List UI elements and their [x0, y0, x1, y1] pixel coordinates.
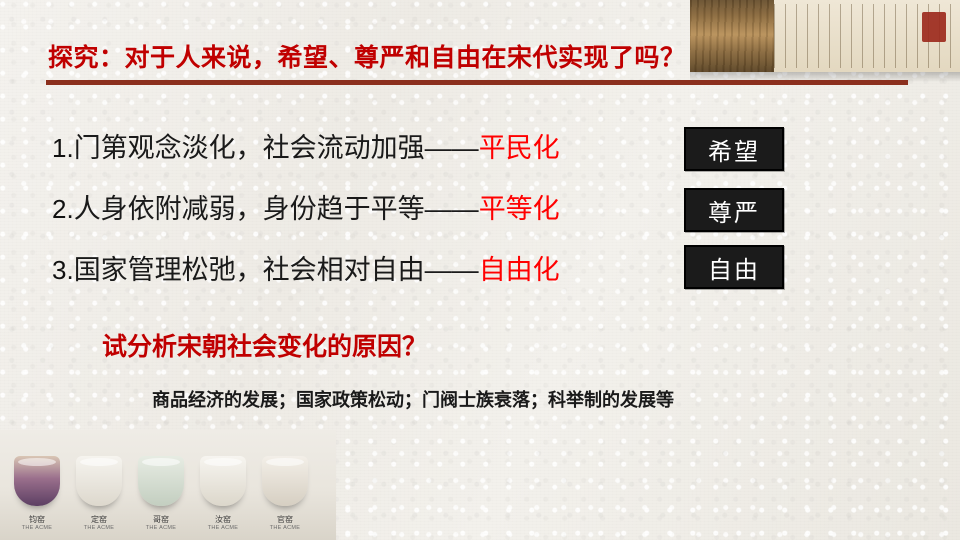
- list-item-text: 国家管理松弛，社会相对自由——: [74, 248, 479, 287]
- list-item-number: 1.: [52, 133, 74, 164]
- points-list: 1. 门第观念淡化，社会流动加强—— 平民化 2. 人身依附减弱，身份趋于平等—…: [52, 126, 692, 309]
- teacup-caption-en: THE ACME: [71, 525, 127, 532]
- list-item: 1. 门第观念淡化，社会流动加强—— 平民化: [52, 126, 692, 165]
- teacup-caption-cn: 定窑: [71, 515, 127, 525]
- list-item-highlight: 平民化: [479, 126, 560, 165]
- teacup-icon: [262, 456, 308, 506]
- teacup-caption: 钧窑 THE ACME: [9, 515, 65, 532]
- list-item-text: 门第观念淡化，社会流动加强——: [74, 126, 479, 165]
- list-item-highlight: 平等化: [479, 187, 560, 226]
- page-title: 探究：对于人来说，希望、尊严和自由在宋代实现了吗？: [48, 38, 686, 74]
- red-seal-icon: [922, 12, 946, 42]
- teacup-caption-cn: 汝窑: [195, 515, 251, 525]
- teacup-caption-en: THE ACME: [133, 525, 189, 532]
- teacup-icon: [138, 456, 184, 506]
- teacup-caption: 官窑 THE ACME: [257, 515, 313, 532]
- teacup-caption: 哥窑 THE ACME: [133, 515, 189, 532]
- title-underline-rule: [46, 80, 908, 85]
- list-item: 3. 国家管理松弛，社会相对自由—— 自由化: [52, 248, 692, 287]
- teacup-icon: [200, 456, 246, 506]
- teacup-row-image: 钧窑 THE ACME 定窑 THE ACME 哥窑 THE ACME 汝窑 T…: [0, 430, 336, 540]
- teacup-caption-en: THE ACME: [257, 525, 313, 532]
- teacup-caption-cn: 官窑: [257, 515, 313, 525]
- teacup-caption: 定窑 THE ACME: [71, 515, 127, 532]
- teacup-caption-cn: 哥窑: [133, 515, 189, 525]
- keyword-badge-hope: 希望: [684, 127, 784, 171]
- teacup-caption-en: THE ACME: [9, 525, 65, 532]
- teacup-caption-cn: 钧窑: [9, 515, 65, 525]
- answer-text: 商品经济的发展；国家政策松动；门阀士族衰落；科举制的发展等: [152, 386, 674, 412]
- list-item-highlight: 自由化: [479, 248, 560, 287]
- discussion-question: 试分析宋朝社会变化的原因？: [102, 327, 427, 363]
- teacup-caption-en: THE ACME: [195, 525, 251, 532]
- list-item-number: 2.: [52, 194, 74, 225]
- teacup-icon: [14, 456, 60, 506]
- list-item-number: 3.: [52, 255, 74, 286]
- keyword-badge-dignity: 尊严: [684, 188, 784, 232]
- list-item: 2. 人身依附减弱，身份趋于平等—— 平等化: [52, 187, 692, 226]
- list-item-text: 人身依附减弱，身份趋于平等——: [74, 187, 479, 226]
- ancient-scroll-image: [690, 0, 960, 88]
- teacup-caption: 汝窑 THE ACME: [195, 515, 251, 532]
- teacup-icon: [76, 456, 122, 506]
- keyword-badge-freedom: 自由: [684, 245, 784, 289]
